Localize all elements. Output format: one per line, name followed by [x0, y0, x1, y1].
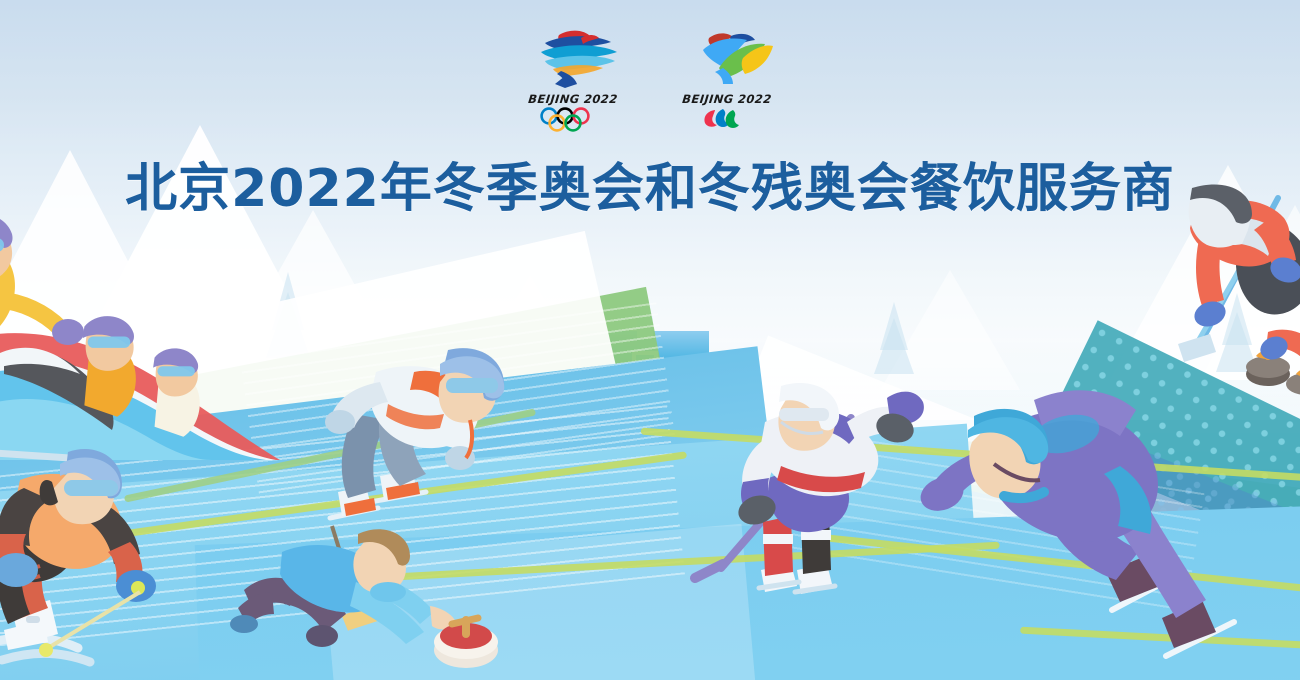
paralympic-wordmark: BEIJING 2022 [672, 92, 781, 106]
beijing-2022-olympic-emblem: BEIJING 2022 [519, 28, 627, 133]
agitos-icon [689, 107, 765, 133]
athlete-ice-hockey-player [735, 382, 945, 612]
athlete-curler-arm [1262, 320, 1300, 400]
fir-tree-icon [874, 318, 914, 374]
athlete-speed-skater [940, 378, 1260, 678]
leap-icon [673, 28, 781, 90]
olympic-wordmark: BEIJING 2022 [518, 92, 627, 106]
athlete-curler-delivering-stone [238, 520, 518, 680]
olympic-rings-icon [535, 107, 611, 133]
page-title: 北京2022年冬季奥会和冬残奥会餐饮服务商 [0, 146, 1300, 221]
winter-dream-icon [519, 28, 627, 90]
athlete-short-track-speed-skater [330, 342, 520, 542]
beijing-2022-catering-banner: BEIJING 2022 BEIJING 20 [0, 0, 1300, 680]
beijing-2022-paralympic-emblem: BEIJING 2022 [673, 28, 781, 133]
emblem-row: BEIJING 2022 BEIJING 20 [0, 28, 1300, 133]
